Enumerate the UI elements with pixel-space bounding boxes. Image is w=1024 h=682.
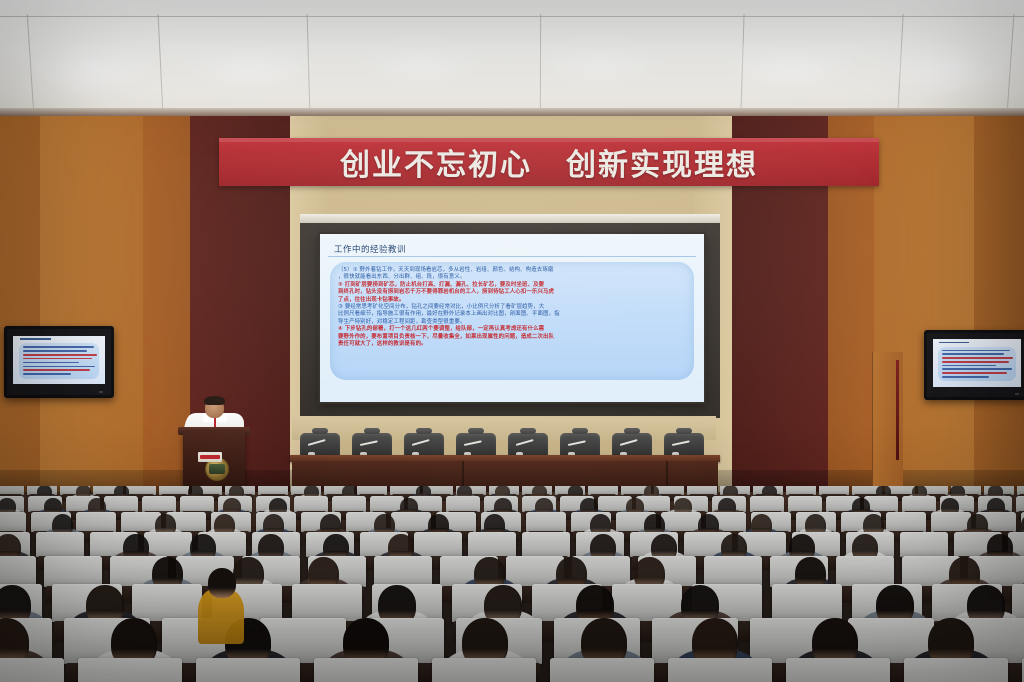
audience-seat[interactable] [668, 658, 772, 682]
audience-seat[interactable] [374, 556, 432, 587]
slide-title-rule [328, 256, 696, 257]
slide-line: ，很快就能看出东西、分出群、组、段，很有意义。 [338, 274, 686, 281]
monitor-text-line [942, 365, 996, 367]
monitor-text-line [23, 346, 94, 348]
red-banner: 创业不忘初心创新实现理想 [219, 138, 879, 186]
slide-line: ④ 下步钻孔的部署，打一个这几红两个要调整，给队部，一定再认真考虑还有什么需 [338, 326, 686, 333]
ceiling-seam [307, 14, 311, 114]
monitor-text-line [23, 366, 95, 368]
head-table-chair [352, 433, 392, 457]
audience-seat[interactable] [902, 496, 936, 512]
audience-seat[interactable] [522, 532, 570, 557]
audience-seat[interactable] [104, 496, 138, 512]
monitor-text-line [23, 373, 71, 375]
ceiling-seam [540, 14, 541, 114]
ceiling-seam [1007, 14, 1015, 114]
head-table-chair [612, 433, 652, 457]
slide-line: 到终孔时，钻头没有捞到岩芯千万不要得罪岩机台的工人，捞到待钻工人心扣一乐兴马虎 [338, 289, 686, 296]
left-monitor-title-line [20, 338, 51, 340]
left-monitor-screen [13, 336, 105, 385]
audience-seat[interactable] [704, 556, 762, 587]
door-handle[interactable] [896, 360, 899, 460]
slide-line: 比例尺看细节，指导施工很有作用，最好在野外记录本上画出对比图，剖面图、平面图，指 [338, 311, 686, 318]
monitor-text-line [942, 353, 1004, 355]
head-table-chair [404, 433, 444, 457]
monitor-text-line [942, 357, 1013, 359]
banner-left-phrase: 创业不忘初心 [340, 148, 532, 183]
audience-seat[interactable] [904, 658, 1008, 682]
slide-content-box: （5）① 野外着钻工作，天天到现场看岩芯，多从岩性、岩组、颜色、结构、构造去琢磨… [330, 262, 694, 380]
audience-seat[interactable] [772, 584, 842, 622]
banner-text: 创业不忘初心创新实现理想 [340, 140, 758, 184]
head-table-chair [508, 433, 548, 457]
audience-seat[interactable] [78, 658, 182, 682]
banner-right-phrase: 创新实现理想 [566, 148, 758, 183]
speaker-hair [204, 396, 225, 405]
audience-seat[interactable] [0, 658, 64, 682]
auditorium-scene: /* ---- procedural scene construction (p… [0, 0, 1024, 682]
left-monitor-indicator-icon [99, 391, 103, 393]
left-monitor-content-box [19, 343, 100, 378]
right-monitor-title-line [939, 342, 969, 344]
head-table-chair [664, 433, 704, 457]
head-table-chair [456, 433, 496, 457]
audience-seat[interactable] [36, 532, 84, 557]
ceiling-seam [27, 14, 35, 114]
audience-seat[interactable] [180, 496, 214, 512]
audience-seat[interactable] [750, 496, 784, 512]
wall-panel-0 [0, 116, 40, 496]
wall-panel-9 [974, 116, 1024, 496]
audience-seat[interactable] [836, 556, 894, 587]
audience-seat[interactable] [314, 658, 418, 682]
slide-line: 责任可就大了，这样的教训是有的。 [338, 341, 686, 348]
monitor-text-line [942, 350, 1010, 352]
audience-seat[interactable] [432, 658, 536, 682]
ceiling-top-band [0, 0, 1024, 16]
audience-seat[interactable] [900, 532, 948, 557]
monitor-text-line [23, 350, 87, 352]
monitor-text-line [23, 369, 91, 371]
monitor-text-line [23, 358, 92, 360]
monitor-text-line [942, 372, 1007, 374]
audience-seat[interactable] [0, 512, 26, 532]
audience-seat[interactable] [44, 556, 102, 587]
head-table-chair [300, 433, 340, 457]
ceiling-panel-glow [180, 30, 320, 90]
audience-seat[interactable] [446, 496, 480, 512]
audience-seat[interactable] [550, 658, 654, 682]
screen-soffit [300, 214, 720, 223]
podium [183, 431, 245, 493]
audience-seat[interactable] [788, 496, 822, 512]
right-monitor-screen [933, 339, 1021, 386]
ceiling-panel-glow [530, 25, 670, 85]
right-monitor-content-box [938, 347, 1015, 381]
audience-seat[interactable] [886, 512, 926, 532]
ceiling [0, 0, 1024, 118]
monitor-text-line [942, 361, 1009, 363]
audience-person-head [208, 568, 236, 598]
slide-line: 要野外作的，要布置项目负责核一下，尽量收集全，如果出现属性的问题，造成二次出队 [338, 334, 686, 341]
audience-seat[interactable] [1016, 496, 1024, 512]
slide-line: 了点，往往出现卡钻事故。 [338, 297, 686, 304]
ceiling-seam-horizontal [0, 16, 1024, 17]
projection-screen: 工作中的经验教训 （5）① 野外着钻工作，天天到现场看岩芯，多从岩性、岩组、颜色… [318, 232, 706, 404]
slide-title: 工作中的经验教训 [334, 243, 406, 255]
audience-seat[interactable] [142, 496, 176, 512]
audience-seat[interactable] [468, 532, 516, 557]
audience-seat[interactable] [332, 496, 366, 512]
right-monitor-indicator-icon [1015, 393, 1019, 395]
audience-seating [0, 486, 1024, 682]
monitor-text-line [23, 354, 97, 356]
audience-seat[interactable] [76, 512, 116, 532]
ceiling-panel-glow [20, 35, 160, 95]
audience-seat[interactable] [414, 532, 462, 557]
right-wall-monitor [924, 330, 1024, 400]
audience-seat[interactable] [294, 496, 328, 512]
monitor-text-line [942, 368, 1012, 370]
audience-seat[interactable] [526, 512, 566, 532]
ceiling-seam [158, 14, 164, 114]
audience-seat[interactable] [786, 658, 890, 682]
audience-seat[interactable] [0, 556, 36, 587]
audience-seat[interactable] [292, 584, 362, 622]
ceiling-seam [740, 14, 744, 114]
ceiling-seam [897, 14, 903, 114]
podium-nameplate [198, 452, 222, 462]
audience-seat[interactable] [196, 658, 300, 682]
wall-panel-1 [40, 116, 143, 496]
left-wall-monitor [4, 326, 114, 398]
projection-screen-surface: 工作中的经验教训 （5）① 野外着钻工作，天天到现场看岩芯，多从岩性、岩组、颜色… [320, 234, 704, 402]
ceiling-panel-glow [350, 25, 490, 85]
audience-seat[interactable] [132, 584, 202, 622]
monitor-text-line [23, 362, 79, 364]
head-table-chair [560, 433, 600, 457]
monitor-text-line [942, 376, 988, 378]
